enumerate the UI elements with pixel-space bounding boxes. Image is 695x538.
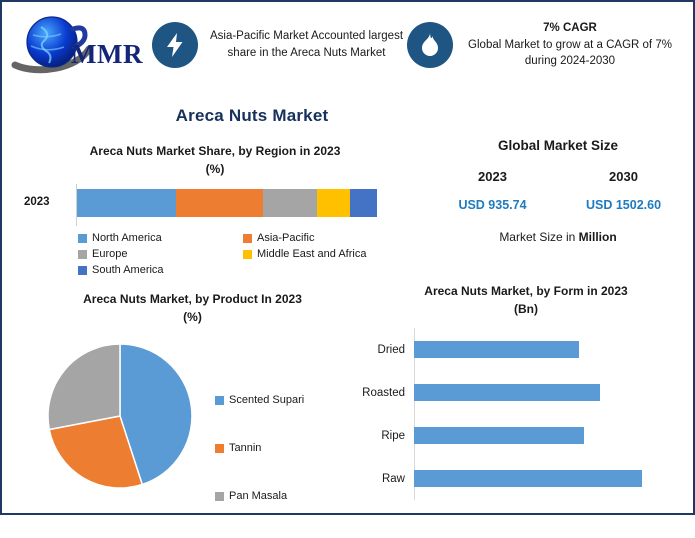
chart-form-plot: DriedRoastedRipeRaw [360,328,692,500]
form-bar [414,341,579,358]
legend-swatch-icon [78,250,87,259]
chart-region-subtitle: (%) [20,160,410,178]
product-legend-label: Tannin [229,442,261,454]
form-category-label: Dried [360,344,410,356]
chart-region-legend: North AmericaAsia-PacificEuropeMiddle Ea… [78,230,408,278]
legend-swatch-icon [78,234,87,243]
chart-region-stacked-bar [77,189,377,217]
logo-wordmark: MMR [11,13,149,77]
global-market-size-values: USD 935.74 USD 1502.60 [427,198,689,212]
global-market-size-title: Global Market Size [427,138,689,153]
legend-swatch-icon [215,444,224,453]
product-legend-item: Pan Masala [215,490,304,538]
chart-form-subtitle: (Bn) [360,300,692,318]
chart-form-share: Areca Nuts Market, by Form in 2023 (Bn) … [360,282,692,510]
form-row: Roasted [360,371,692,414]
chart-product-share: Areca Nuts Market, by Product In 2023 (%… [20,290,365,508]
form-bar [414,470,642,487]
chart-product-title: Areca Nuts Market, by Product In 2023 (%… [20,290,365,326]
header-cagr-detail: Global Market to grow at a CAGR of 7% du… [468,39,672,68]
header-bar: MMR Asia-Pacific Market Accounted larges… [2,2,693,88]
lightning-bolt-icon [152,22,198,68]
flame-icon [407,22,453,68]
gms-value-2023: USD 935.74 [438,198,548,212]
region-legend-item: Europe [78,246,243,262]
gms-unit-prefix: Market Size in [499,230,578,244]
gms-value-2030: USD 1502.60 [569,198,679,212]
region-legend-label: South America [92,264,164,276]
chart-product-legend: Scented SupariTanninPan Masala [215,394,304,538]
gms-year-2023: 2023 [438,169,548,184]
gms-year-2030: 2030 [569,169,679,184]
legend-swatch-icon [78,266,87,275]
product-legend-label: Scented Supari [229,394,304,406]
region-legend-item: North America [78,230,243,246]
region-segment-1 [176,189,263,217]
global-market-size-years: 2023 2030 [427,169,689,184]
global-market-size-panel: Global Market Size 2023 2030 USD 935.74 … [427,138,689,258]
chart-region-title: Areca Nuts Market Share, by Region in 20… [20,142,410,178]
legend-swatch-icon [215,396,224,405]
region-segment-0 [77,189,176,217]
page-title: Areca Nuts Market [2,106,502,126]
form-bar [414,427,584,444]
logo-block: MMR [2,2,152,88]
infographic-container: MMR Asia-Pacific Market Accounted larges… [0,0,695,515]
region-legend-label: Asia-Pacific [257,232,314,244]
header-highlight-cagr: 7% CAGR Global Market to grow at a CAGR … [407,20,679,70]
chart-product-plot: Scented SupariTanninPan Masala [20,332,365,512]
region-legend-item: Middle East and Africa [243,246,408,262]
region-legend-label: North America [92,232,162,244]
region-segment-4 [350,189,377,217]
form-bar [414,384,600,401]
product-legend-label: Pan Masala [229,490,287,502]
region-legend-item: Asia-Pacific [243,230,408,246]
legend-swatch-icon [243,250,252,259]
logo-text: MMR [71,39,143,69]
chart-product-subtitle: (%) [20,308,365,326]
header-cagr-heading: 7% CAGR [461,20,679,37]
region-legend-label: Europe [92,248,127,260]
chart-region-title-text: Areca Nuts Market Share, by Region in 20… [90,144,341,158]
region-legend-item: South America [78,262,243,278]
form-row: Dried [360,328,692,371]
chart-region-category-label: 2023 [24,196,50,208]
form-row: Ripe [360,414,692,457]
product-legend-item: Tannin [215,442,304,490]
form-row: Raw [360,457,692,500]
region-segment-2 [263,189,317,217]
form-category-label: Roasted [360,387,410,399]
legend-swatch-icon [243,234,252,243]
chart-form-title: Areca Nuts Market, by Form in 2023 (Bn) [360,282,692,318]
header-highlight-text: Asia-Pacific Market Accounted largest sh… [206,28,407,61]
chart-region-share: Areca Nuts Market Share, by Region in 20… [20,142,410,287]
legend-swatch-icon [215,492,224,501]
header-cagr-text: 7% CAGR Global Market to grow at a CAGR … [461,20,679,70]
product-legend-item: Scented Supari [215,394,304,442]
form-category-label: Ripe [360,430,410,442]
chart-form-title-text: Areca Nuts Market, by Form in 2023 [424,284,627,298]
chart-region-plot: 2023 [20,184,410,226]
gms-unit-bold: Million [579,230,617,244]
mmr-logo: MMR [11,13,149,77]
chart-product-title-text: Areca Nuts Market, by Product In 2023 [83,292,302,306]
global-market-size-unit: Market Size in Million [427,230,689,244]
pie-slice-2 [48,344,120,429]
region-legend-label: Middle East and Africa [257,248,366,260]
pie-chart-graphic [42,338,202,498]
form-category-label: Raw [360,473,410,485]
header-highlight-asia-pacific: Asia-Pacific Market Accounted largest sh… [152,22,407,68]
region-segment-3 [317,189,350,217]
